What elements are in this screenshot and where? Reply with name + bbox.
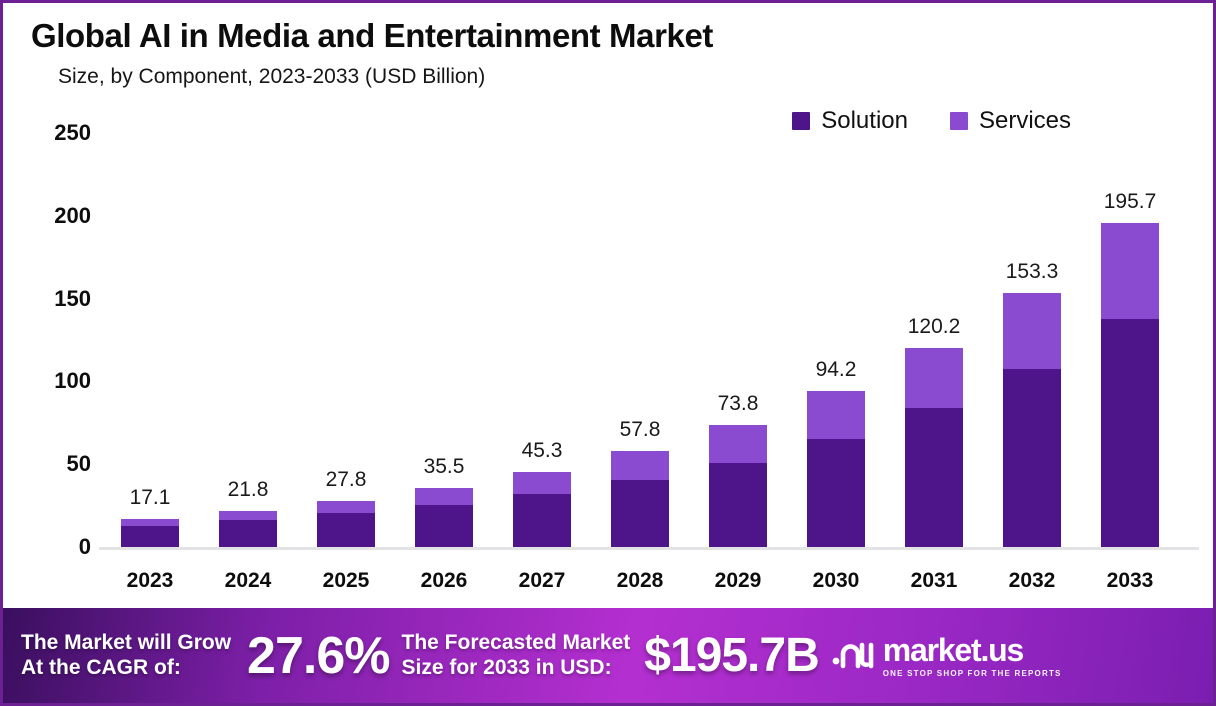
cagr-caption-line1: The Market will Grow xyxy=(21,631,231,656)
stacked-bar[interactable] xyxy=(1003,293,1061,547)
bar-segment-solution[interactable] xyxy=(905,408,963,547)
bar-group[interactable]: 153.32032 xyxy=(1003,3,1061,547)
bar-value-label: 27.8 xyxy=(326,468,367,492)
infographic-page: Global AI in Media and Entertainment Mar… xyxy=(0,0,1216,706)
stacked-bar[interactable] xyxy=(611,451,669,547)
market-us-logo[interactable]: market.us ONE STOP SHOP FOR THE REPORTS xyxy=(831,634,1062,678)
bar-group[interactable]: 45.32027 xyxy=(513,3,571,547)
stacked-bar[interactable] xyxy=(1101,223,1159,547)
bar-value-label: 120.2 xyxy=(908,315,961,339)
stacked-bar[interactable] xyxy=(219,511,277,547)
x-axis-category-label: 2024 xyxy=(225,569,272,593)
forecast-caption-line2: Size for 2033 in USD: xyxy=(402,656,631,681)
x-axis-category-label: 2026 xyxy=(421,569,468,593)
x-axis-category-label: 2027 xyxy=(519,569,566,593)
bar-group[interactable]: 120.22031 xyxy=(905,3,963,547)
stacked-bar[interactable] xyxy=(415,488,473,547)
y-axis: 050100150200250 xyxy=(3,3,99,603)
bar-segment-solution[interactable] xyxy=(1101,319,1159,547)
summary-banner: The Market will Grow At the CAGR of: 27.… xyxy=(3,608,1213,703)
bar-value-label: 153.3 xyxy=(1006,260,1059,284)
bar-group[interactable]: 27.82025 xyxy=(317,3,375,547)
bar-segment-solution[interactable] xyxy=(1003,369,1061,547)
bar-segment-services[interactable] xyxy=(611,451,669,480)
cagr-value: 27.6% xyxy=(247,626,389,686)
cagr-caption-line2: At the CAGR of: xyxy=(21,656,231,681)
bar-value-label: 94.2 xyxy=(816,358,857,382)
y-axis-tick-label: 0 xyxy=(79,534,91,560)
bar-segment-services[interactable] xyxy=(121,519,179,526)
y-axis-tick-label: 150 xyxy=(54,286,91,312)
bar-value-label: 73.8 xyxy=(718,392,759,416)
stacked-bar[interactable] xyxy=(905,348,963,547)
bar-segment-services[interactable] xyxy=(1101,223,1159,319)
bar-group[interactable]: 21.82024 xyxy=(219,3,277,547)
x-axis-category-label: 2023 xyxy=(127,569,174,593)
y-axis-tick-label: 200 xyxy=(54,203,91,229)
x-axis-category-label: 2029 xyxy=(715,569,762,593)
stacked-bar[interactable] xyxy=(317,501,375,547)
chart-plot-area: 050100150200250 17.1202321.8202427.82025… xyxy=(3,3,1213,603)
bar-segment-services[interactable] xyxy=(1003,293,1061,369)
bar-value-label: 21.8 xyxy=(228,478,269,502)
x-axis-category-label: 2033 xyxy=(1107,569,1154,593)
bar-group[interactable]: 94.22030 xyxy=(807,3,865,547)
bar-segment-services[interactable] xyxy=(415,488,473,504)
bar-value-label: 45.3 xyxy=(522,439,563,463)
bar-segment-services[interactable] xyxy=(513,472,571,494)
x-axis-category-label: 2030 xyxy=(813,569,860,593)
x-axis-category-label: 2025 xyxy=(323,569,370,593)
forecast-caption: The Forecasted Market Size for 2033 in U… xyxy=(402,631,631,681)
logo-mark-icon xyxy=(831,636,875,675)
bar-segment-solution[interactable] xyxy=(317,513,375,547)
bar-value-label: 57.8 xyxy=(620,418,661,442)
bar-group[interactable]: 57.82028 xyxy=(611,3,669,547)
stacked-bar[interactable] xyxy=(121,519,179,547)
bar-segment-solution[interactable] xyxy=(415,505,473,547)
bar-segment-services[interactable] xyxy=(219,511,277,520)
logo-text: market.us ONE STOP SHOP FOR THE REPORTS xyxy=(883,634,1062,678)
bar-value-label: 195.7 xyxy=(1104,190,1157,214)
logo-tagline: ONE STOP SHOP FOR THE REPORTS xyxy=(883,670,1062,678)
logo-name: market.us xyxy=(883,634,1062,666)
y-axis-tick-label: 100 xyxy=(54,368,91,394)
x-axis-category-label: 2028 xyxy=(617,569,664,593)
bar-value-label: 35.5 xyxy=(424,455,465,479)
bar-segment-solution[interactable] xyxy=(807,439,865,547)
y-axis-tick-label: 250 xyxy=(54,120,91,146)
x-axis-category-label: 2032 xyxy=(1009,569,1056,593)
forecast-value: $195.7B xyxy=(644,628,818,683)
bar-segment-solution[interactable] xyxy=(121,526,179,547)
bar-segment-solution[interactable] xyxy=(513,494,571,547)
stacked-bar[interactable] xyxy=(513,472,571,547)
bar-group[interactable]: 17.12023 xyxy=(121,3,179,547)
bar-segment-services[interactable] xyxy=(317,501,375,513)
bar-group[interactable]: 195.72033 xyxy=(1101,3,1159,547)
stacked-bar[interactable] xyxy=(807,391,865,547)
bar-group[interactable]: 73.82029 xyxy=(709,3,767,547)
bar-segment-solution[interactable] xyxy=(709,463,767,547)
cagr-caption: The Market will Grow At the CAGR of: xyxy=(21,631,231,681)
x-axis-category-label: 2031 xyxy=(911,569,958,593)
forecast-caption-line1: The Forecasted Market xyxy=(402,631,631,656)
y-axis-tick-label: 50 xyxy=(67,451,91,477)
stacked-bar[interactable] xyxy=(709,425,767,547)
bar-segment-services[interactable] xyxy=(807,391,865,439)
bar-group[interactable]: 35.52026 xyxy=(415,3,473,547)
bar-segment-services[interactable] xyxy=(905,348,963,408)
bar-segment-services[interactable] xyxy=(709,425,767,463)
bar-series-container: 17.1202321.8202427.8202535.5202645.32027… xyxy=(99,3,1199,603)
bar-segment-solution[interactable] xyxy=(219,520,277,547)
bar-segment-solution[interactable] xyxy=(611,480,669,547)
bar-value-label: 17.1 xyxy=(130,486,171,510)
